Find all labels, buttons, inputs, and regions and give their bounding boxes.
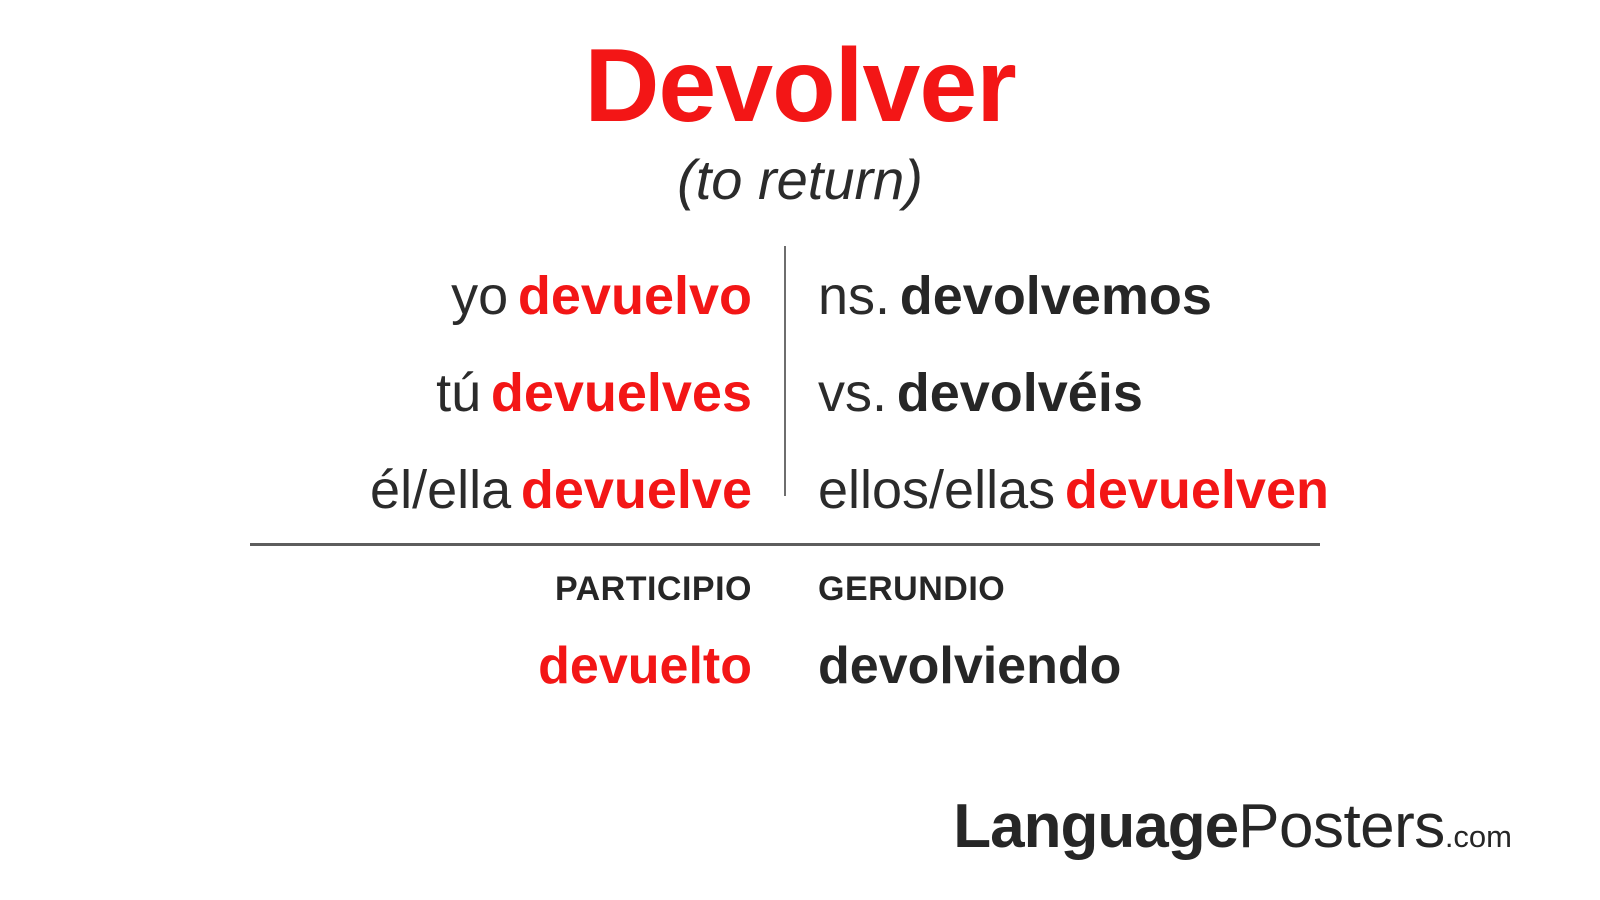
page-title: Devolver bbox=[0, 34, 1600, 138]
gerundio-block: GERUNDIO devolviendo bbox=[818, 572, 1518, 692]
conjugation-column-singular: yodevuelvo túdevuelves él/elladevuelve bbox=[150, 248, 752, 539]
nonfinite-forms-section: PARTICIPIO devuelto GERUNDIO devolviendo bbox=[0, 572, 1600, 712]
conjugation-table: yodevuelvo túdevuelves él/elladevuelve n… bbox=[0, 248, 1600, 506]
section-divider bbox=[250, 543, 1320, 546]
logo-word-posters: Posters bbox=[1238, 792, 1445, 861]
conjugation-row: ellos/ellasdevuelven bbox=[818, 442, 1518, 539]
logo-tld: .com bbox=[1445, 819, 1512, 854]
conjugation-column-plural: ns.devolvemos vs.devolvéis ellos/ellasde… bbox=[818, 248, 1518, 539]
page-subtitle-translation: (to return) bbox=[0, 152, 1600, 208]
pronoun-label: yo bbox=[451, 266, 508, 326]
pronoun-label: tú bbox=[436, 363, 481, 423]
pronoun-label: ns. bbox=[818, 266, 890, 326]
gerundio-label: GERUNDIO bbox=[818, 572, 1518, 606]
participio-label: PARTICIPIO bbox=[150, 572, 752, 606]
participio-value: devuelto bbox=[150, 640, 752, 692]
conjugation-row: túdevuelves bbox=[150, 345, 752, 442]
verb-form: devolvemos bbox=[900, 266, 1212, 326]
verb-form: devuelves bbox=[491, 363, 752, 423]
verb-conjugation-poster: Devolver (to return) yodevuelvo túdevuel… bbox=[0, 0, 1600, 900]
pronoun-label: él/ella bbox=[370, 460, 511, 520]
conjugation-row: yodevuelvo bbox=[150, 248, 752, 345]
verb-form: devuelve bbox=[521, 460, 752, 520]
conjugation-row: él/elladevuelve bbox=[150, 442, 752, 539]
pronoun-label: vs. bbox=[818, 363, 887, 423]
conjugation-row: vs.devolvéis bbox=[818, 345, 1518, 442]
languageposters-logo: LanguagePosters.com bbox=[953, 796, 1512, 858]
verb-form: devolvéis bbox=[897, 363, 1143, 423]
pronoun-label: ellos/ellas bbox=[818, 460, 1055, 520]
conjugation-row: ns.devolvemos bbox=[818, 248, 1518, 345]
verb-form: devuelven bbox=[1065, 460, 1329, 520]
verb-form: devuelvo bbox=[518, 266, 752, 326]
logo-word-language: Language bbox=[953, 792, 1238, 861]
participio-block: PARTICIPIO devuelto bbox=[150, 572, 752, 692]
gerundio-value: devolviendo bbox=[818, 640, 1518, 692]
